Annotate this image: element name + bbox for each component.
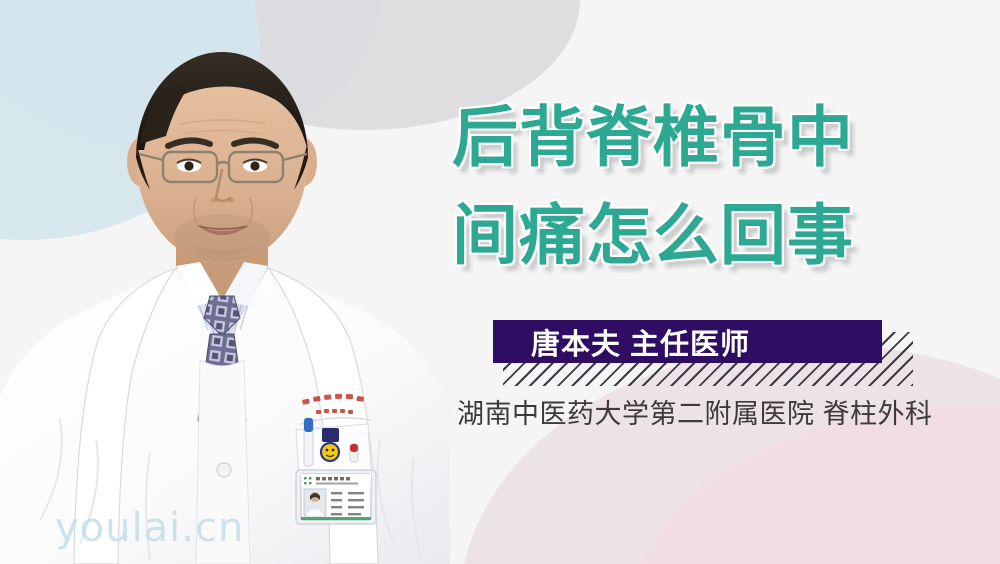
headline: 后背脊椎骨中 间痛怎么回事 — [452, 88, 982, 284]
affiliation-text: 湖南中医药大学第二附属医院 脊柱外科 — [457, 392, 933, 431]
doctor-name-title: 唐本夫 主任医师 — [493, 321, 750, 363]
doctor-name-banner: 唐本夫 主任医师 — [493, 320, 913, 386]
video-thumbnail-canvas: 后背脊椎骨中 间痛怎么回事 唐本夫 主任医师 湖南中医药大学第二附属医院 脊柱外… — [0, 0, 1000, 564]
headline-line-2: 间痛怎么回事 — [452, 186, 982, 284]
headline-line-1: 后背脊椎骨中 — [452, 88, 982, 186]
doctor-portrait — [0, 0, 450, 564]
banner-block: 唐本夫 主任医师 — [493, 320, 882, 363]
site-watermark: youlai.cn — [55, 505, 244, 551]
